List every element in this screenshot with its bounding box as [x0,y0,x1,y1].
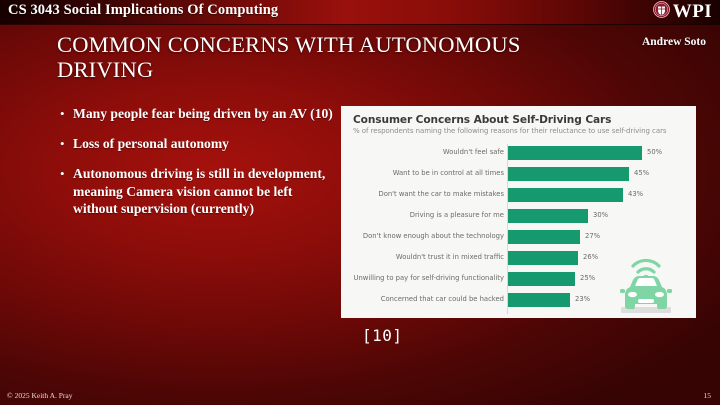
bar [508,251,578,265]
chart-title: Consumer Concerns About Self-Driving Car… [353,114,611,126]
bar-value-label: 23% [575,295,590,303]
bar [508,188,623,202]
bar-category-label: Concerned that car could be hacked [381,295,504,303]
wpi-logo: WPI [653,1,712,23]
bullet-marker-icon: • [60,105,73,122]
wpi-crest-seal-icon [653,1,670,23]
bar-value-label: 27% [585,232,600,240]
bar-category-label: Don't know enough about the technology [363,232,504,240]
bar-category-label: Wouldn't feel safe [443,148,504,156]
bar-category-label: Unwilling to pay for self-driving functi… [353,274,504,282]
bar-row: Wouldn't trust it in mixed traffic26% [341,249,696,270]
bar [508,167,629,181]
list-item: • Autonomous driving is still in develop… [60,165,338,217]
bar-value-label: 30% [593,211,608,219]
bar-value-label: 25% [580,274,595,282]
bar-row: Want to be in control at all times45% [341,165,696,186]
bullet-text: Loss of personal autonomy [73,135,229,152]
bar-category-label: Don't want the car to make mistakes [378,190,504,198]
bar-category-label: Wouldn't trust it in mixed traffic [396,253,504,261]
bar-row: Unwilling to pay for self-driving functi… [341,270,696,291]
bar-row: Don't want the car to make mistakes43% [341,186,696,207]
footer-copyright: © 2025 Keith A. Pray [7,391,73,400]
bar-row: Don't know enough about the technology27… [341,228,696,249]
bar-value-label: 26% [583,253,598,261]
bar-category-label: Driving is a pleasure for me [410,211,504,219]
bullet-marker-icon: • [60,165,73,182]
bar [508,209,588,223]
bar-value-label: 50% [647,148,662,156]
header-bar: CS 3043 Social Implications Of Computing… [0,0,720,24]
bullet-marker-icon: • [60,135,73,152]
presenter-name: Andrew Soto [642,36,706,48]
bar [508,230,580,244]
bullet-text: Autonomous driving is still in developme… [73,165,338,217]
chart-plot-area: Wouldn't feel safe50%Want to be in contr… [341,142,696,318]
list-item: • Many people fear being driven by an AV… [60,105,338,122]
bar-value-label: 45% [634,169,649,177]
slide-canvas: CS 3043 Social Implications Of Computing… [0,0,720,405]
slide-title: COMMON CONCERNS WITH AUTONOMOUS DRIVING [57,33,577,82]
bar-row: Concerned that car could be hacked23% [341,291,696,312]
bar [508,293,570,307]
course-title: CS 3043 Social Implications Of Computing [8,2,278,19]
bar-value-label: 43% [628,190,643,198]
bar [508,272,575,286]
wpi-wordmark: WPI [673,2,712,22]
bar-row: Wouldn't feel safe50% [341,144,696,165]
list-item: • Loss of personal autonomy [60,135,338,152]
bullet-list: • Many people fear being driven by an AV… [60,105,338,230]
citation-reference: [10] [362,326,403,345]
bar-row: Driving is a pleasure for me30% [341,207,696,228]
chart-subtitle: % of respondents naming the following re… [353,127,667,135]
bar [508,146,642,160]
bullet-text: Many people fear being driven by an AV (… [73,105,333,122]
footer-page-number: 15 [704,391,712,400]
chart-panel: Consumer Concerns About Self-Driving Car… [341,106,696,318]
bar-category-label: Want to be in control at all times [393,169,504,177]
